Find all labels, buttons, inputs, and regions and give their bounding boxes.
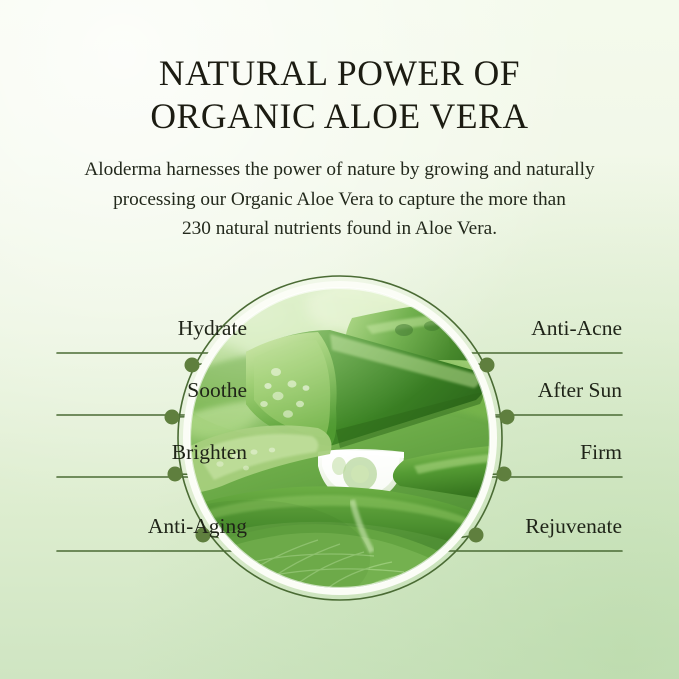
benefit-label-brighten[interactable]: Brighten	[57, 442, 247, 464]
benefit-label-firm-text: Firm	[580, 440, 622, 464]
node-dot-after-sun	[500, 410, 515, 425]
benefit-label-soothe[interactable]: Soothe	[57, 380, 247, 402]
node-dot-hydrate	[185, 358, 200, 373]
benefit-label-after-sun-text: After Sun	[538, 378, 622, 402]
benefit-label-hydrate-text: Hydrate	[178, 316, 247, 340]
benefit-label-soothe-text: Soothe	[187, 378, 247, 402]
node-dot-anti-acne	[480, 358, 495, 373]
benefit-label-anti-aging[interactable]: Anti-Aging	[57, 516, 247, 538]
benefit-label-hydrate[interactable]: Hydrate	[57, 318, 247, 340]
benefit-label-after-sun[interactable]: After Sun	[432, 380, 622, 402]
benefit-label-rejuvenate[interactable]: Rejuvenate	[432, 516, 622, 538]
benefits-diagram: Hydrate Soothe Brighten Anti-Aging Anti-…	[0, 0, 679, 679]
node-dot-brighten	[168, 467, 183, 482]
benefit-label-anti-acne[interactable]: Anti-Acne	[432, 318, 622, 340]
benefit-label-anti-acne-text: Anti-Acne	[531, 316, 622, 340]
benefit-label-anti-aging-text: Anti-Aging	[148, 514, 247, 538]
node-dot-firm	[497, 467, 512, 482]
benefit-label-firm[interactable]: Firm	[432, 442, 622, 464]
benefit-label-rejuvenate-text: Rejuvenate	[525, 514, 622, 538]
node-dot-soothe	[165, 410, 180, 425]
benefit-label-brighten-text: Brighten	[172, 440, 247, 464]
